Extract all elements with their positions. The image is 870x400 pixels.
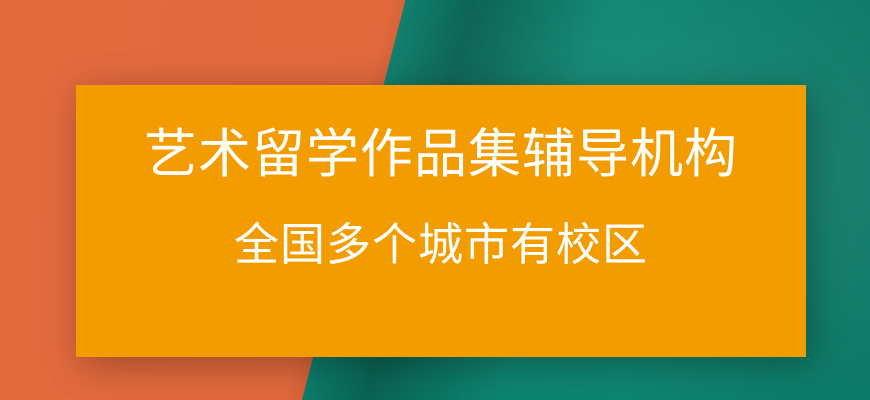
amber-card: 艺术留学作品集辅导机构 全国多个城市有校区 bbox=[76, 85, 806, 357]
banner-title: 艺术留学作品集辅导机构 bbox=[144, 127, 738, 182]
promo-banner: 艺术留学作品集辅导机构 全国多个城市有校区 bbox=[0, 0, 870, 400]
banner-subtitle: 全国多个城市有校区 bbox=[234, 222, 648, 269]
